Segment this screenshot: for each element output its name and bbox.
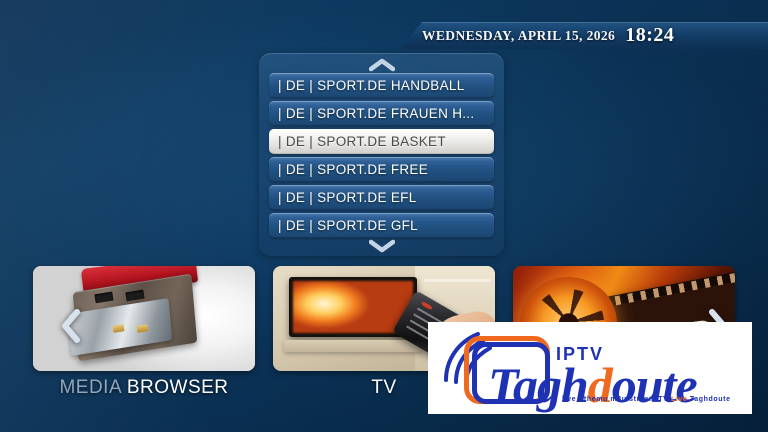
channel-row[interactable]: | DE | SPORT.DE FRAUEN H... (269, 101, 494, 126)
iptv-home-screen: WEDNESDAY, APRIL 15, 2026 18:24 | DE | S… (0, 0, 768, 432)
chevron-left-icon[interactable] (58, 308, 84, 344)
channel-row[interactable]: | DE | SPORT.DE EFL (269, 185, 494, 210)
logo-tagline: live Sthemu m3u stream TV Live Taghdoute (562, 396, 731, 403)
channel-list[interactable]: | DE | SPORT.DE HANDBALL | DE | SPORT.DE… (269, 73, 494, 238)
scroll-up-button[interactable] (367, 57, 397, 73)
logo-brand-part1: Tagh (488, 357, 588, 413)
logo-brand-text: Taghdoute (488, 356, 697, 414)
tile-caption-media-browser: MEDIA BROWSER (28, 377, 260, 399)
caption-bright-text: TV (371, 377, 396, 398)
channel-label: | DE | SPORT.DE FRAUEN H... (278, 106, 474, 121)
scroll-down-button[interactable] (367, 238, 397, 254)
channel-label: | DE | SPORT.DE FREE (278, 162, 428, 177)
channel-label: | DE | SPORT.DE HANDBALL (278, 78, 465, 93)
tagline-highlight: Live (671, 396, 687, 403)
logo-brand-part3: oute (612, 357, 697, 413)
tile-media-browser[interactable]: MEDIA BROWSER (28, 258, 260, 398)
channel-row-selected[interactable]: | DE | SPORT.DE BASKET (269, 129, 494, 154)
tagline-part2: Taghdoute (687, 396, 730, 403)
channel-row[interactable]: | DE | SPORT.DE HANDBALL (269, 73, 494, 98)
current-date: WEDNESDAY, APRIL 15, 2026 (422, 28, 615, 44)
tagline-part1: live Sthemu m3u stream TV (562, 396, 671, 403)
caption-dim-text: MEDIA (59, 377, 121, 398)
logo-brand-part2: d (588, 357, 612, 413)
caption-bright-text: BROWSER (121, 377, 228, 398)
datetime-bar: WEDNESDAY, APRIL 15, 2026 18:24 (400, 22, 768, 49)
channel-label: | DE | SPORT.DE BASKET (278, 134, 446, 149)
watermark-logo: IPTV Taghdoute live Sthemu m3u stream TV… (428, 322, 752, 414)
channel-list-panel: | DE | SPORT.DE HANDBALL | DE | SPORT.DE… (259, 53, 504, 256)
channel-label: | DE | SPORT.DE EFL (278, 190, 417, 205)
channel-row[interactable]: | DE | SPORT.DE GFL (269, 213, 494, 238)
current-time: 18:24 (625, 24, 674, 47)
channel-row[interactable]: | DE | SPORT.DE FREE (269, 157, 494, 182)
channel-label: | DE | SPORT.DE GFL (278, 218, 418, 233)
